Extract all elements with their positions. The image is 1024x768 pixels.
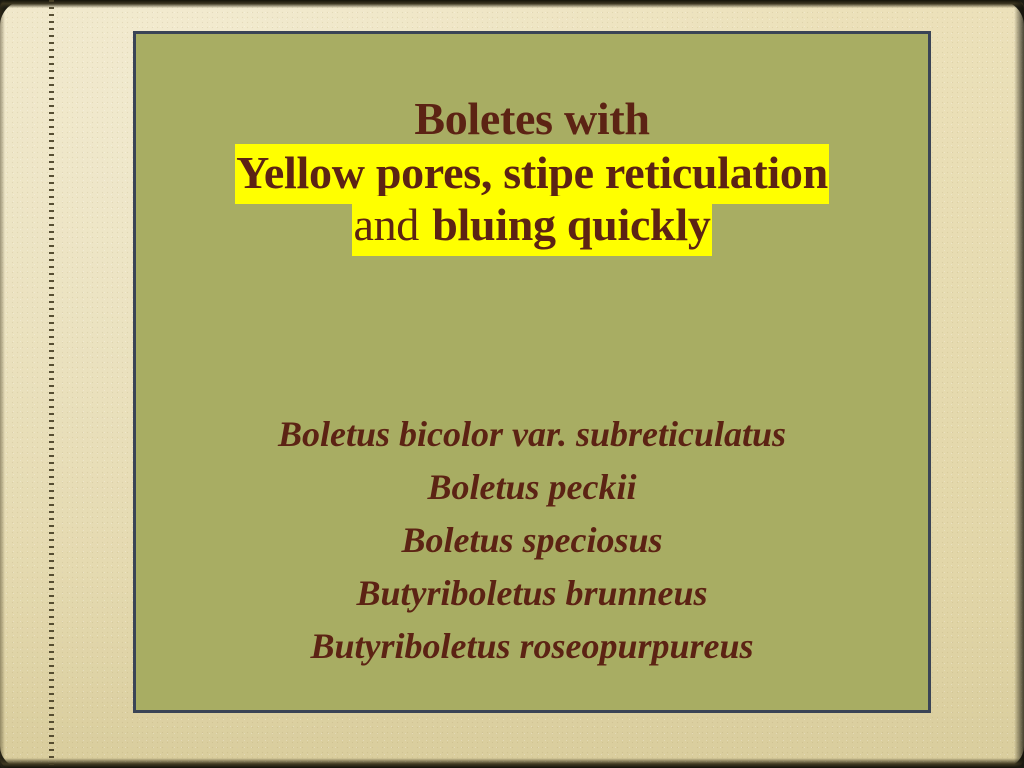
species-list: Boletus bicolor var. subreticulatus Bole… [136, 408, 928, 673]
content-panel: Boletes with Yellow pores, stipe reticul… [133, 31, 931, 713]
title-line-2: Yellow pores, stipe reticulation [136, 150, 928, 196]
binding-perforation-line [49, 0, 54, 768]
page-edge-top [0, 0, 1024, 8]
title-line-2-highlight: Yellow pores, stipe reticulation [235, 144, 829, 204]
page-edge-left [0, 0, 5, 768]
title-line-3-emphasis-highlight: bluing quickly [431, 196, 711, 256]
species-item: Boletus bicolor var. subreticulatus [136, 408, 928, 461]
title-line-3: and bluing quickly [136, 202, 928, 248]
species-item: Butyriboletus brunneus [136, 567, 928, 620]
species-item: Butyriboletus roseopurpureus [136, 620, 928, 673]
slide-title: Boletes with Yellow pores, stipe reticul… [136, 96, 928, 248]
page-edge-right [1014, 0, 1024, 768]
slide-page: Boletes with Yellow pores, stipe reticul… [0, 0, 1024, 768]
page-edge-bottom [0, 758, 1024, 768]
title-line-1: Boletes with [136, 96, 928, 142]
species-item: Boletus speciosus [136, 514, 928, 567]
species-item: Boletus peckii [136, 461, 928, 514]
title-line-3-prefix-highlight: and [352, 196, 431, 256]
